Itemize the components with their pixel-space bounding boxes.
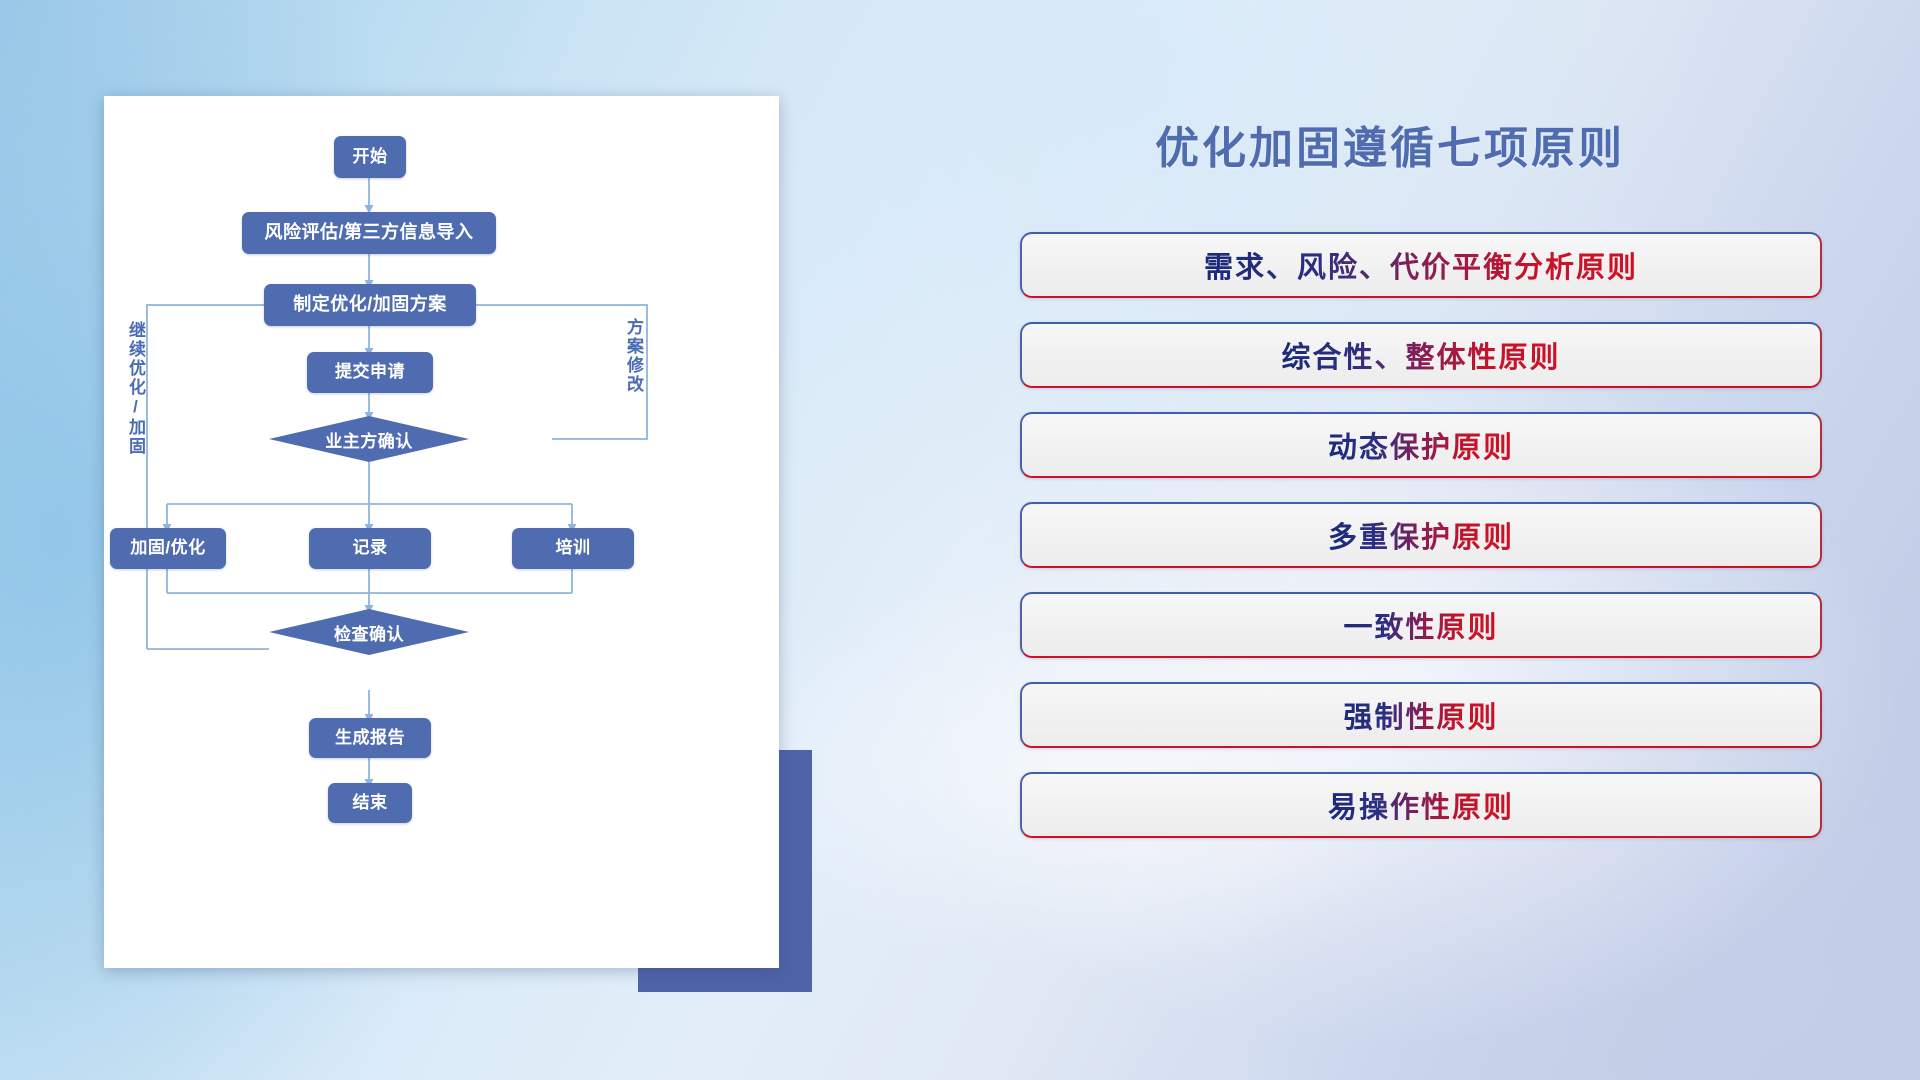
principle-card-4[interactable]: 多重保护原则 bbox=[1020, 502, 1822, 568]
flow-node-risk-assessment[interactable]: 风险评估/第三方信息导入 bbox=[242, 212, 496, 254]
flow-node-submit-application-label: 提交申请 bbox=[335, 363, 405, 382]
principle-label: 需求、风险、代价平衡分析原则 bbox=[1204, 244, 1638, 286]
principle-label: 易操作性原则 bbox=[1328, 784, 1514, 826]
principle-label: 动态保护原则 bbox=[1328, 424, 1514, 466]
flow-node-reinforce-optimize-label: 加固/优化 bbox=[130, 539, 205, 558]
flow-node-start-label: 开始 bbox=[353, 148, 388, 167]
principle-card-7[interactable]: 易操作性原则 bbox=[1020, 772, 1822, 838]
flow-node-generate-report[interactable]: 生成报告 bbox=[309, 718, 431, 758]
principles-list: 需求、风险、代价平衡分析原则 综合性、整体性原则 动态保护原则 多重保护原则 一… bbox=[1020, 232, 1822, 862]
flow-node-reinforce-optimize[interactable]: 加固/优化 bbox=[110, 528, 226, 569]
flow-node-end-label: 结束 bbox=[353, 794, 388, 813]
flow-node-training[interactable]: 培训 bbox=[512, 528, 634, 569]
slide-canvas: 开始 风险评估/第三方信息导入 制定优化/加固方案 提交申请 业主方确认 加固/… bbox=[0, 0, 1920, 1080]
flow-decision-owner-confirm[interactable]: 业主方确认 bbox=[269, 416, 469, 462]
flow-node-generate-report-label: 生成报告 bbox=[335, 729, 405, 748]
flow-decision-owner-confirm-label: 业主方确认 bbox=[269, 416, 469, 462]
principle-label: 综合性、整体性原则 bbox=[1281, 334, 1560, 376]
flow-node-record[interactable]: 记录 bbox=[309, 528, 431, 569]
page-title: 优化加固遵循七项原则 bbox=[1155, 112, 1625, 176]
flow-decision-check-confirm-label: 检查确认 bbox=[269, 609, 469, 655]
principle-label: 一致性原则 bbox=[1343, 604, 1498, 646]
principle-card-1[interactable]: 需求、风险、代价平衡分析原则 bbox=[1020, 232, 1822, 298]
flow-edge-label-left-loop: 继续优化/加固 bbox=[127, 321, 144, 481]
flow-node-training-label: 培训 bbox=[556, 539, 591, 558]
principle-card-2[interactable]: 综合性、整体性原则 bbox=[1020, 322, 1822, 388]
flowchart-card: 开始 风险评估/第三方信息导入 制定优化/加固方案 提交申请 业主方确认 加固/… bbox=[104, 96, 779, 968]
flow-node-make-plan[interactable]: 制定优化/加固方案 bbox=[264, 284, 476, 326]
principle-card-3[interactable]: 动态保护原则 bbox=[1020, 412, 1822, 478]
flow-edge-label-right-loop: 方案修改 bbox=[625, 318, 642, 428]
principle-label: 强制性原则 bbox=[1343, 694, 1498, 736]
right-pane: 优化加固遵循七项原则 需求、风险、代价平衡分析原则 综合性、整体性原则 动态保护… bbox=[1020, 0, 1920, 1080]
principle-label: 多重保护原则 bbox=[1328, 514, 1514, 556]
flow-node-risk-assessment-label: 风险评估/第三方信息导入 bbox=[265, 223, 474, 243]
flow-node-start[interactable]: 开始 bbox=[334, 136, 406, 178]
principle-card-6[interactable]: 强制性原则 bbox=[1020, 682, 1822, 748]
flow-node-record-label: 记录 bbox=[353, 539, 388, 558]
flow-node-make-plan-label: 制定优化/加固方案 bbox=[293, 295, 447, 315]
principle-card-5[interactable]: 一致性原则 bbox=[1020, 592, 1822, 658]
flow-decision-check-confirm[interactable]: 检查确认 bbox=[269, 609, 469, 655]
flow-node-submit-application[interactable]: 提交申请 bbox=[307, 352, 433, 393]
flow-node-end[interactable]: 结束 bbox=[328, 783, 412, 823]
flowchart-canvas: 开始 风险评估/第三方信息导入 制定优化/加固方案 提交申请 业主方确认 加固/… bbox=[104, 96, 779, 968]
